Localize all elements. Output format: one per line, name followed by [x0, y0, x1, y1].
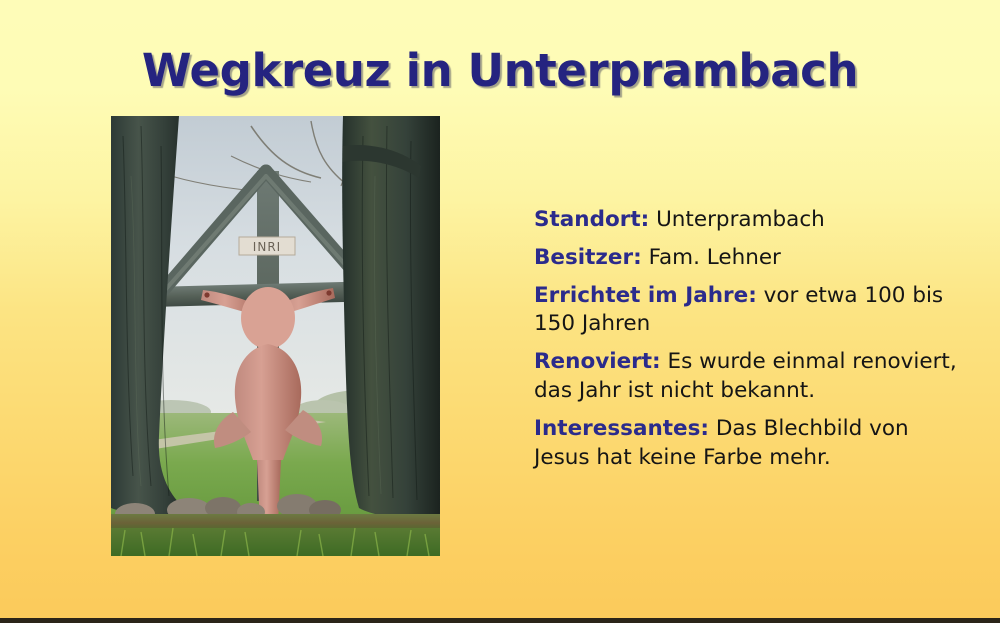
detail-label: Errichtet im Jahre:	[534, 283, 757, 308]
detail-item-standort: Standort: Unterprambach	[534, 206, 966, 235]
detail-item-besitzer: Besitzer: Fam. Lehner	[534, 244, 966, 273]
svg-text:INRI: INRI	[253, 240, 281, 254]
detail-value: Fam. Lehner	[649, 245, 781, 270]
detail-item-errichtet: Errichtet im Jahre: vor etwa 100 bis 150…	[534, 282, 966, 340]
detail-label: Standort:	[534, 207, 649, 232]
detail-list: Standort: Unterprambach Besitzer: Fam. L…	[534, 206, 966, 472]
detail-item-interessantes: Interessantes: Das Blechbild von Jesus h…	[534, 415, 966, 473]
detail-value: Unterprambach	[656, 207, 825, 232]
footer-strip	[0, 618, 1000, 623]
slide: Wegkreuz in Unterprambach	[0, 0, 1000, 623]
detail-label: Interessantes:	[534, 416, 709, 441]
inri-plaque: INRI	[239, 237, 295, 255]
wegkreuz-photo: INRI	[111, 116, 440, 556]
detail-label: Besitzer:	[534, 245, 642, 270]
page-title: Wegkreuz in Unterprambach	[0, 44, 1000, 97]
detail-label: Renoviert:	[534, 349, 661, 374]
detail-item-renoviert: Renoviert: Es wurde einmal renoviert, da…	[534, 348, 966, 406]
